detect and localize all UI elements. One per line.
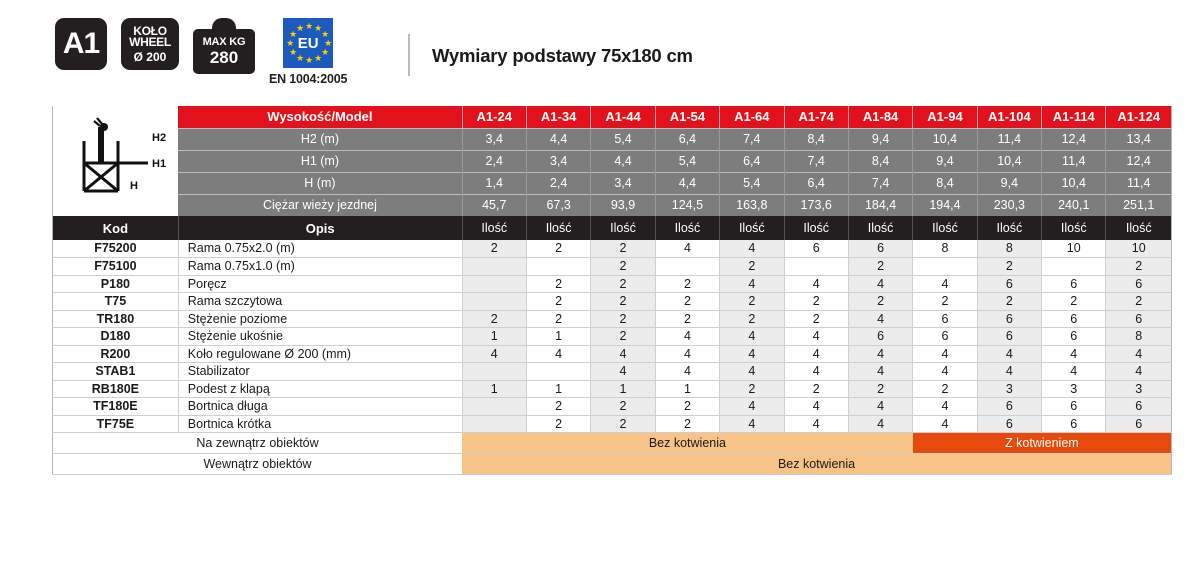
table-row: R200Koło regulowane Ø 200 (mm)4444444444… [53,345,1172,363]
part-qty: 2 [977,258,1041,276]
part-qty: 1 [462,328,526,346]
spec-value: 11,4 [1106,172,1172,194]
table-header-models: H2 H1 H Wysokość/ModelA1-24A1-34A1-44A1-… [53,106,1172,128]
part-qty: 2 [977,293,1041,311]
part-qty [1042,258,1106,276]
spec-value: 3,4 [526,150,590,172]
part-qty: 2 [655,275,719,293]
page-title: Wymiary podstawy 75x180 cm [432,45,693,67]
part-qty: 4 [784,415,848,433]
part-qty: 4 [720,240,784,258]
spec-value: 11,4 [1042,150,1106,172]
eu-text: EU [298,36,319,51]
part-qty: 6 [1042,275,1106,293]
header-desc: Opis [178,216,462,240]
table-row: TF180EBortnica długa2224444666 [53,398,1172,416]
part-desc: Bortnica długa [178,398,462,416]
part-qty: 1 [591,380,655,398]
part-qty: 8 [1106,328,1172,346]
part-code: R200 [53,345,179,363]
part-qty: 2 [655,398,719,416]
part-desc: Rama szczytowa [178,293,462,311]
part-qty: 2 [526,398,590,416]
part-qty: 2 [526,293,590,311]
part-qty: 2 [1106,293,1172,311]
header-qty: Ilość [913,216,977,240]
spec-value: 10,4 [1042,172,1106,194]
part-qty: 6 [977,310,1041,328]
header-model-A1-104: A1-104 [977,106,1041,128]
header-model-label: Wysokość/Model [178,106,462,128]
part-qty: 4 [720,275,784,293]
header-model-A1-64: A1-64 [720,106,784,128]
part-qty: 4 [655,240,719,258]
part-qty: 2 [848,258,912,276]
spec-label: H1 (m) [178,150,462,172]
part-qty: 2 [720,293,784,311]
part-qty: 4 [977,363,1041,381]
svg-text:H1: H1 [152,158,166,170]
table-row: F75100Rama 0.75x1.0 (m)22222 [53,258,1172,276]
spec-value: 5,4 [655,150,719,172]
header-qty: Ilość [720,216,784,240]
header-model-A1-124: A1-124 [1106,106,1172,128]
spec-value: 10,4 [977,150,1041,172]
spec-value: 9,4 [977,172,1041,194]
part-qty: 1 [655,380,719,398]
part-qty: 6 [977,415,1041,433]
part-qty: 2 [1106,258,1172,276]
part-qty: 2 [462,310,526,328]
part-code: D180 [53,328,179,346]
max-load-badge: MAX KG 280 [193,18,255,74]
eu-norm-badge: ★ ★ ★ ★ ★ ★ ★ ★ ★ ★ ★ ★ EU EN 1004:2005 [269,18,347,86]
header-qty: Ilość [977,216,1041,240]
svg-text:H: H [130,180,138,192]
spec-value: 6,4 [655,128,719,150]
part-qty: 6 [848,240,912,258]
footer-outdoor-left: Bez kotwienia [462,433,913,454]
spec-value: 230,3 [977,194,1041,216]
part-qty: 6 [784,240,848,258]
part-qty: 6 [977,398,1041,416]
part-qty: 4 [848,398,912,416]
part-qty: 4 [977,345,1041,363]
header-qty: Ilość [1042,216,1106,240]
part-qty: 8 [977,240,1041,258]
part-qty: 6 [1106,275,1172,293]
part-qty: 1 [462,380,526,398]
part-qty: 2 [526,275,590,293]
part-desc: Rama 0.75x1.0 (m) [178,258,462,276]
part-qty: 1 [526,380,590,398]
svg-text:H2: H2 [152,132,166,144]
table-row: F75200Rama 0.75x2.0 (m)2224466881010 [53,240,1172,258]
footer-indoor-label: Wewnątrz obiektów [53,454,463,475]
part-qty: 2 [720,258,784,276]
part-qty: 4 [848,310,912,328]
spec-value: 11,4 [977,128,1041,150]
part-qty: 6 [1042,415,1106,433]
part-qty: 4 [784,275,848,293]
part-qty: 4 [913,363,977,381]
part-qty: 2 [591,258,655,276]
spec-value: 9,4 [848,128,912,150]
part-qty: 1 [526,328,590,346]
part-qty: 2 [591,415,655,433]
part-qty: 6 [1042,310,1106,328]
spec-value: 6,4 [784,172,848,194]
part-code: STAB1 [53,363,179,381]
part-qty: 6 [1042,328,1106,346]
part-desc: Bortnica krótka [178,415,462,433]
part-qty: 4 [720,345,784,363]
part-qty: 4 [720,415,784,433]
part-qty: 3 [1106,380,1172,398]
header-model-A1-24: A1-24 [462,106,526,128]
part-qty: 2 [591,240,655,258]
part-qty: 2 [591,293,655,311]
part-qty: 4 [784,345,848,363]
diagram-cell: H2 H1 H [53,106,179,216]
spec-value: 93,9 [591,194,655,216]
part-desc: Stężenie ukośnie [178,328,462,346]
header-qty: Ilość [848,216,912,240]
spec-value: 124,5 [655,194,719,216]
table-row: D180Stężenie ukośnie11244466668 [53,328,1172,346]
part-qty: 2 [462,240,526,258]
part-qty: 2 [913,380,977,398]
spec-value: 12,4 [1106,150,1172,172]
spec-value: 10,4 [913,128,977,150]
part-code: TR180 [53,310,179,328]
model-code-text: A1 [63,29,99,59]
en-norm-text: EN 1004:2005 [269,72,347,86]
part-qty [462,398,526,416]
spec-value: 2,4 [526,172,590,194]
header-qty: Ilość [526,216,590,240]
part-code: TF75E [53,415,179,433]
part-qty: 2 [784,380,848,398]
header-model-A1-74: A1-74 [784,106,848,128]
part-qty: 6 [977,275,1041,293]
part-desc: Poręcz [178,275,462,293]
part-desc: Stężenie poziome [178,310,462,328]
part-qty: 4 [462,345,526,363]
part-qty [913,258,977,276]
part-qty: 4 [848,275,912,293]
spec-value: 5,4 [720,172,784,194]
spec-value: 8,4 [848,150,912,172]
part-qty: 4 [848,345,912,363]
max-load-body: MAX KG 280 [193,29,255,74]
part-qty: 6 [1106,415,1172,433]
spec-value: 13,4 [1106,128,1172,150]
header-model-A1-94: A1-94 [913,106,977,128]
part-qty: 2 [784,310,848,328]
part-qty: 6 [1042,398,1106,416]
part-code: T75 [53,293,179,311]
part-qty [462,275,526,293]
part-qty: 4 [784,398,848,416]
spec-value: 8,4 [913,172,977,194]
part-qty: 2 [1042,293,1106,311]
spec-value: 6,4 [720,150,784,172]
part-qty: 2 [591,310,655,328]
spec-value: 163,8 [720,194,784,216]
spec-value: 2,4 [462,150,526,172]
part-code: TF180E [53,398,179,416]
footer-row-indoor: Wewnątrz obiektówBez kotwienia [53,454,1172,475]
table-row: RB180EPodest z klapą11112222333 [53,380,1172,398]
spec-value: 7,4 [848,172,912,194]
header-model-A1-44: A1-44 [591,106,655,128]
spec-value: 7,4 [720,128,784,150]
spec-row: H2 (m)3,44,45,46,47,48,49,410,411,412,41… [53,128,1172,150]
part-qty: 2 [848,380,912,398]
part-desc: Koło regulowane Ø 200 (mm) [178,345,462,363]
part-qty: 4 [655,345,719,363]
part-qty [462,293,526,311]
part-qty: 2 [591,398,655,416]
spec-value: 3,4 [462,128,526,150]
table-row: TR180Stężenie poziome22222246666 [53,310,1172,328]
wheel-label-en: WHEEL [129,36,171,48]
part-qty: 2 [526,240,590,258]
part-qty: 4 [913,415,977,433]
header-model-A1-114: A1-114 [1042,106,1106,128]
spec-label: Ciężar wieży jezdnej [178,194,462,216]
spec-value: 251,1 [1106,194,1172,216]
part-qty: 6 [913,310,977,328]
footer-indoor-value: Bez kotwienia [462,454,1171,475]
part-qty: 6 [1106,310,1172,328]
spec-value: 4,4 [655,172,719,194]
spec-value: 67,3 [526,194,590,216]
table-row: TF75EBortnica krótka2224444666 [53,415,1172,433]
spec-value: 5,4 [591,128,655,150]
part-qty: 4 [913,275,977,293]
part-qty: 4 [591,345,655,363]
part-qty: 3 [977,380,1041,398]
part-qty: 4 [526,345,590,363]
part-desc: Stabilizator [178,363,462,381]
part-qty: 3 [1042,380,1106,398]
part-qty [462,258,526,276]
part-qty: 4 [1042,363,1106,381]
table-header-parts: KodOpisIlośćIlośćIlośćIlośćIlośćIlośćIlo… [53,216,1172,240]
part-qty: 2 [720,310,784,328]
spec-value: 12,4 [1042,128,1106,150]
part-qty: 4 [784,328,848,346]
spec-value: 1,4 [462,172,526,194]
part-qty: 4 [1042,345,1106,363]
header-qty: Ilość [462,216,526,240]
header-qty: Ilość [1106,216,1172,240]
wheel-badge: KOŁO WHEEL Ø 200 [121,18,179,70]
spec-row: Ciężar wieży jezdnej45,767,393,9124,5163… [53,194,1172,216]
header-model-A1-54: A1-54 [655,106,719,128]
part-qty: 6 [848,328,912,346]
part-qty: 4 [913,398,977,416]
part-qty: 2 [784,293,848,311]
part-desc: Rama 0.75x2.0 (m) [178,240,462,258]
part-qty: 4 [784,363,848,381]
spec-value: 45,7 [462,194,526,216]
part-qty: 4 [655,363,719,381]
part-qty: 2 [848,293,912,311]
header-qty: Ilość [784,216,848,240]
header-model-A1-34: A1-34 [526,106,590,128]
spec-label: H2 (m) [178,128,462,150]
part-qty: 8 [913,240,977,258]
part-qty: 2 [655,310,719,328]
part-qty: 4 [720,363,784,381]
spec-value: 173,6 [784,194,848,216]
part-qty: 4 [655,328,719,346]
spec-value: 184,4 [848,194,912,216]
footer-row-outdoor: Na zewnątrz obiektówBez kotwieniaZ kotwi… [53,433,1172,454]
part-qty: 4 [848,415,912,433]
part-qty [462,363,526,381]
part-code: RB180E [53,380,179,398]
header-qty: Ilość [655,216,719,240]
table-row: P180Poręcz2224444666 [53,275,1172,293]
part-qty [655,258,719,276]
spec-value: 4,4 [591,150,655,172]
specification-table: H2 H1 H Wysokość/ModelA1-24A1-34A1-44A1-… [52,106,1172,475]
part-code: F75100 [53,258,179,276]
part-qty [526,258,590,276]
part-qty: 6 [913,328,977,346]
spec-row: H (m)1,42,43,44,45,46,47,48,49,410,411,4 [53,172,1172,194]
part-code: F75200 [53,240,179,258]
part-qty: 2 [591,328,655,346]
part-qty: 4 [591,363,655,381]
spec-value: 240,1 [1042,194,1106,216]
part-desc: Podest z klapą [178,380,462,398]
header-model-A1-84: A1-84 [848,106,912,128]
spec-row: H1 (m)2,43,44,45,46,47,48,49,410,411,412… [53,150,1172,172]
footer-outdoor-right: Z kotwieniem [913,433,1172,454]
title-divider [408,34,410,76]
wheel-diameter: Ø 200 [134,51,167,63]
part-qty: 4 [720,328,784,346]
part-qty: 4 [1106,363,1172,381]
footer-outdoor-label: Na zewnątrz obiektów [53,433,463,454]
part-qty [526,363,590,381]
part-qty: 4 [848,363,912,381]
spec-value: 4,4 [526,128,590,150]
part-qty: 2 [526,310,590,328]
spec-value: 9,4 [913,150,977,172]
part-qty: 4 [720,398,784,416]
spec-value: 194,4 [913,194,977,216]
max-load-label: MAX KG [203,37,246,48]
spec-value: 7,4 [784,150,848,172]
part-qty: 6 [1106,398,1172,416]
header-qty: Ilość [591,216,655,240]
part-qty [784,258,848,276]
badge-bar: A1 KOŁO WHEEL Ø 200 MAX KG 280 ★ ★ ★ ★ ★… [55,18,347,90]
table-row: T75Rama szczytowa2222222222 [53,293,1172,311]
part-qty: 10 [1042,240,1106,258]
part-qty: 6 [977,328,1041,346]
part-code: P180 [53,275,179,293]
part-qty: 4 [1106,345,1172,363]
part-qty: 2 [591,275,655,293]
part-qty: 2 [526,415,590,433]
part-qty: 2 [913,293,977,311]
spec-value: 3,4 [591,172,655,194]
table-row: STAB1Stabilizator444444444 [53,363,1172,381]
page-root: A1 KOŁO WHEEL Ø 200 MAX KG 280 ★ ★ ★ ★ ★… [0,0,1197,572]
eu-flag-icon: ★ ★ ★ ★ ★ ★ ★ ★ ★ ★ ★ ★ EU [283,18,333,68]
part-qty: 10 [1106,240,1172,258]
spec-label: H (m) [178,172,462,194]
part-qty: 2 [655,293,719,311]
max-load-value: 280 [210,49,238,66]
tower-diagram: H2 H1 H [53,106,178,216]
model-code-badge: A1 [55,18,107,70]
spec-value: 8,4 [784,128,848,150]
part-qty: 4 [913,345,977,363]
header-code: Kod [53,216,179,240]
part-qty [462,415,526,433]
part-qty: 2 [720,380,784,398]
part-qty: 2 [655,415,719,433]
